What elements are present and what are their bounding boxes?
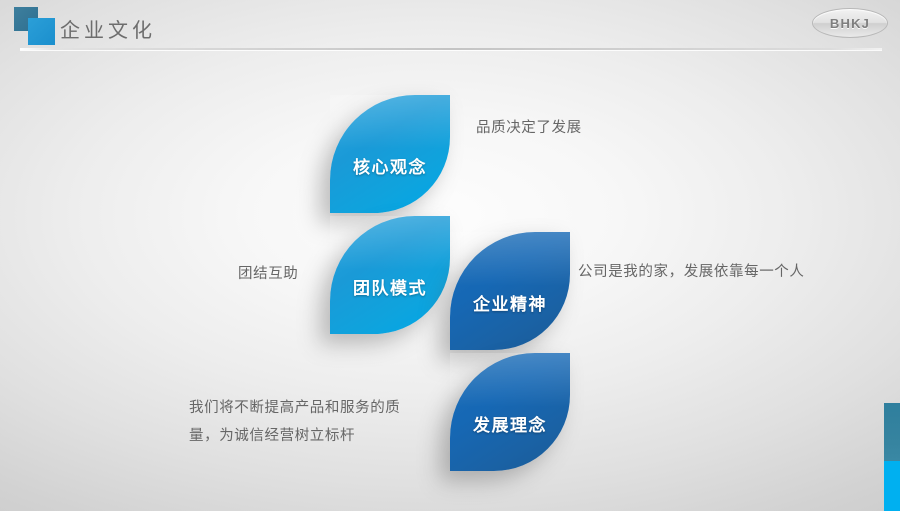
slide-canvas: 企业文化 BHKJ 核心观念 团队模式 企业精神 发展理念 品质决定了发展 公司…	[0, 0, 900, 511]
petal-shape-development-philosophy[interactable]: 发展理念	[450, 353, 570, 471]
caption-company-is-my-home: 公司是我的家，发展依靠每一个人	[578, 258, 805, 286]
edge-accent-block-teal	[884, 403, 900, 461]
caption-unity-and-mutual-help: 团结互助	[238, 260, 298, 288]
petal-label-development-philosophy: 发展理念	[473, 411, 547, 436]
petal-sheen-overlay	[450, 353, 570, 407]
petal-sheen-overlay	[450, 232, 570, 286]
petal-label-enterprise-spirit: 企业精神	[473, 290, 547, 315]
slide-header: 企业文化 BHKJ	[0, 0, 900, 50]
brand-logo: BHKJ	[812, 8, 888, 38]
page-title: 企业文化	[60, 14, 156, 43]
petal-sheen-overlay	[330, 95, 450, 149]
caption-improve-product-quality: 我们将不断提高产品和服务的质 量，为诚信经营树立标杆	[189, 394, 439, 450]
header-divider	[20, 48, 882, 50]
edge-accent-block-cyan	[884, 461, 900, 511]
petal-shape-team-model[interactable]: 团队模式	[330, 216, 450, 334]
petal-shape-core-concept[interactable]: 核心观念	[330, 95, 450, 213]
petal-shape-enterprise-spirit[interactable]: 企业精神	[450, 232, 570, 350]
petal-sheen-overlay	[330, 216, 450, 270]
caption-quality-determines-development: 品质决定了发展	[476, 114, 582, 142]
petal-label-team-model: 团队模式	[353, 274, 427, 299]
petal-label-core-concept: 核心观念	[353, 153, 427, 178]
header-decor-square-bright	[28, 18, 55, 45]
logo-text: BHKJ	[812, 8, 888, 38]
